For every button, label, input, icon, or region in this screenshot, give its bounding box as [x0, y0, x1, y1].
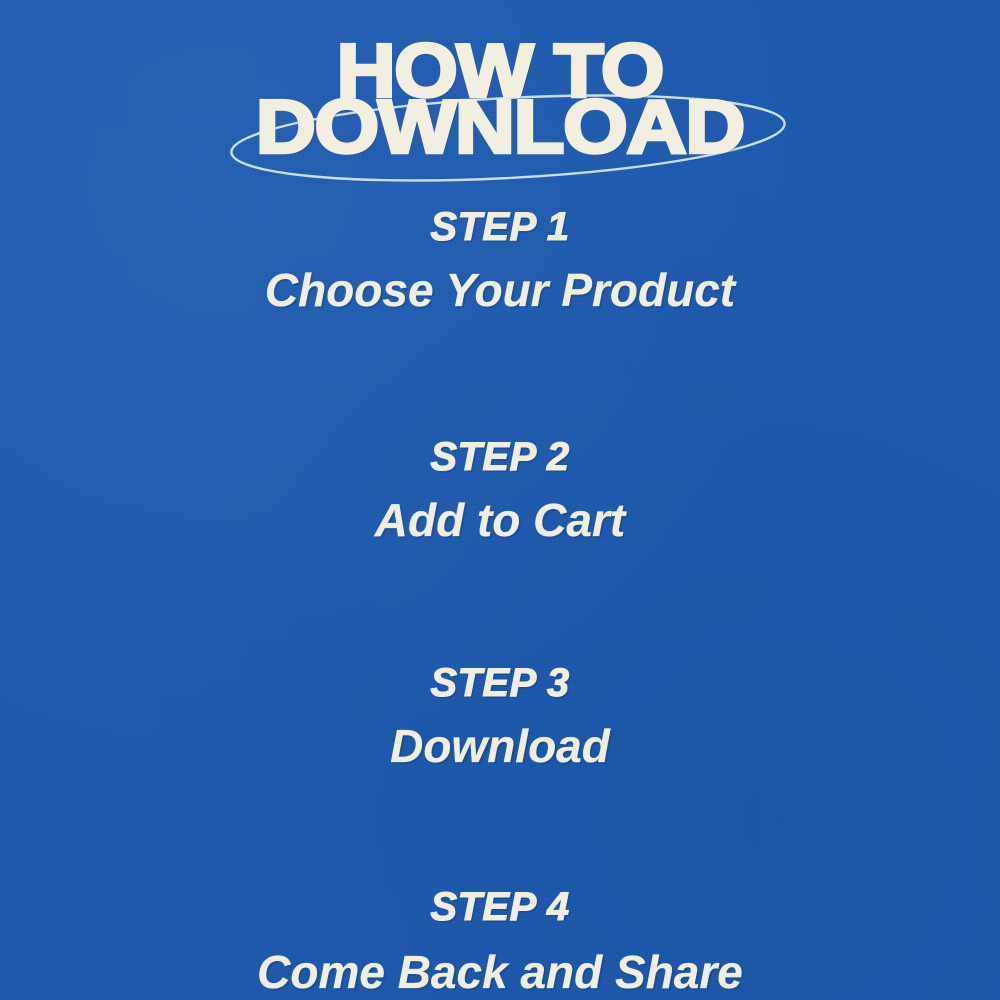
poster-canvas: HOW TO DOWNLOAD STEP 1 Choose Your Produ…: [0, 0, 1000, 1000]
title-block: HOW TO DOWNLOAD: [0, 34, 1000, 192]
step-2-description: Add to Cart: [0, 494, 1000, 546]
step-2-label: STEP 2: [0, 434, 1000, 480]
step-3-description: Download: [0, 720, 1000, 772]
step-item-3: STEP 3 Download: [0, 660, 1000, 772]
step-2-description-line-1: Add to Cart: [0, 494, 1000, 546]
step-4-description-line-1: Come Back and Share: [0, 946, 1000, 998]
step-3-description-line-1: Download: [0, 720, 1000, 772]
step-item-1: STEP 1 Choose Your Product: [0, 204, 1000, 316]
step-1-label: STEP 1: [0, 204, 1000, 250]
step-item-2: STEP 2 Add to Cart: [0, 434, 1000, 546]
page-title-line-2: DOWNLOAD: [0, 89, 1000, 164]
steps-list: STEP 1 Choose Your Product STEP 2 Add to…: [0, 204, 1000, 1000]
step-4-label: STEP 4: [0, 884, 1000, 930]
step-1-description: Choose Your Product: [0, 264, 1000, 316]
step-item-4: STEP 4 Come Back and Share Your Experien…: [0, 884, 1000, 1000]
step-3-label: STEP 3: [0, 660, 1000, 706]
step-4-description: Come Back and Share Your Experience: [0, 946, 1000, 1000]
step-1-description-line-1: Choose Your Product: [0, 264, 1000, 316]
